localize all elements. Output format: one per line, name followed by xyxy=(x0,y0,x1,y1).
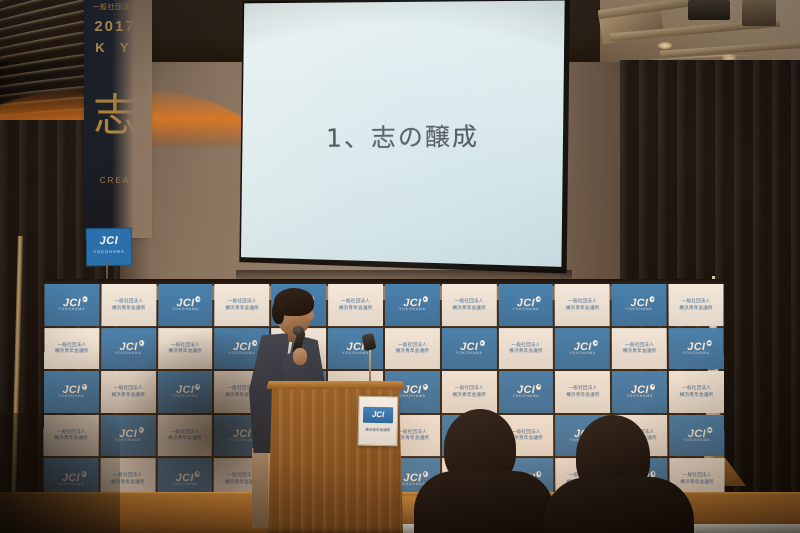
conference-photo-scene: 1、志の醸成 一般社団法人 2017 K Y 志 CREA JCI YOKOHA… xyxy=(0,0,800,533)
backdrop-org-line-1: 一般社団法人 xyxy=(101,386,156,391)
backdrop-tile-text: 一般社団法人横浜青年会議所 xyxy=(669,284,724,325)
backdrop-tile-text: 一般社団法人横浜青年会議所 xyxy=(157,415,212,457)
podium-placard-logo-text: JCI xyxy=(359,410,397,420)
backdrop-org-line-1: 一般社団法人 xyxy=(215,299,270,304)
backdrop-org-line-2: 横浜青年会議所 xyxy=(555,393,610,398)
backdrop-tile-jci: JCIYOKOHAMA xyxy=(385,284,440,325)
backdrop-org-line-1: 一般社団法人 xyxy=(44,343,99,348)
foreground-blur-left xyxy=(0,413,120,533)
downlight-icon xyxy=(658,42,672,49)
backdrop-jci-sub-text: YOKOHAMA xyxy=(328,351,383,355)
backdrop-tile-text: 一般社団法人横浜青年会議所 xyxy=(158,328,213,370)
speaker-hair-side xyxy=(272,300,284,324)
backdrop-tile-text: 一般社団法人横浜青年会議所 xyxy=(612,328,667,370)
backdrop-org-line-1: 一般社団法人 xyxy=(328,299,383,304)
side-sign-sub-text: YOKOHAMA xyxy=(87,249,131,255)
backdrop-org-line-2: 横浜青年会議所 xyxy=(669,393,724,398)
backdrop-tile-jci: JCIYOKOHAMA xyxy=(44,371,99,413)
backdrop-org-line-2: 横浜青年会議所 xyxy=(669,306,724,311)
backdrop-tile-text: 一般社団法人横浜青年会議所 xyxy=(499,328,554,370)
backdrop-org-line-2: 横浜青年会議所 xyxy=(328,306,383,311)
backdrop-jci-sub-text: YOKOHAMA xyxy=(101,351,156,355)
side-sign-logo-text: JCI xyxy=(87,235,131,248)
backdrop-org-line-1: 一般社団法人 xyxy=(442,386,497,391)
backdrop-org-line-2: 横浜青年会議所 xyxy=(385,349,440,354)
backdrop-org-line-1: 一般社団法人 xyxy=(670,473,725,478)
backdrop-org-line-1: 一般社団法人 xyxy=(555,386,610,391)
podium-placard-caption: 横浜青年会議所 xyxy=(359,428,397,433)
backdrop-jci-sub-text: YOKOHAMA xyxy=(158,307,213,311)
backdrop-tile-jci: JCIYOKOHAMA xyxy=(669,415,724,457)
side-jci-sign: JCI YOKOHAMA xyxy=(86,228,133,267)
backdrop-tile-text: 一般社団法人横浜青年会議所 xyxy=(44,328,99,370)
backdrop-tile-jci: JCIYOKOHAMA xyxy=(158,284,213,325)
backdrop-jci-sub-text: YOKOHAMA xyxy=(157,482,212,486)
backdrop-jci-sub-text: YOKOHAMA xyxy=(669,438,724,442)
backdrop-jci-pin-icon xyxy=(423,471,428,477)
backdrop-org-line-2: 横浜青年会議所 xyxy=(555,306,610,311)
backdrop-tile-text: 一般社団法人横浜青年会議所 xyxy=(328,284,383,325)
backdrop-org-line-1: 一般社団法人 xyxy=(555,299,610,304)
backdrop-org-line-2: 横浜青年会議所 xyxy=(442,393,497,398)
backdrop-tile-jci: JCIYOKOHAMA xyxy=(442,328,497,370)
backdrop-jci-sub-text: YOKOHAMA xyxy=(555,351,610,355)
backdrop-org-line-1: 一般社団法人 xyxy=(157,430,212,435)
backdrop-tile-text: 一般社団法人横浜青年会議所 xyxy=(669,371,724,413)
backdrop-org-line-2: 横浜青年会議所 xyxy=(499,349,554,354)
banner-occlusion-mask xyxy=(112,0,152,238)
backdrop-jci-pin-icon xyxy=(82,384,87,390)
audience-shoulders xyxy=(544,477,694,533)
backdrop-org-line-1: 一般社団法人 xyxy=(612,343,667,348)
backdrop-tile-text: 一般社団法人横浜青年会議所 xyxy=(555,284,610,325)
backdrop-jci-sub-text: YOKOHAMA xyxy=(158,394,213,398)
backdrop-org-line-2: 横浜青年会議所 xyxy=(158,349,213,354)
backdrop-org-line-2: 横浜青年会議所 xyxy=(442,306,497,311)
backdrop-org-line-2: 横浜青年会議所 xyxy=(215,306,270,311)
speaker-leg-back xyxy=(252,448,268,528)
audience-shoulders xyxy=(414,471,554,533)
backdrop-org-line-1: 一般社団法人 xyxy=(158,343,213,348)
backdrop-jci-pin-icon xyxy=(138,427,143,433)
backdrop-jci-sub-text: YOKOHAMA xyxy=(44,394,99,398)
backdrop-tile-text: 一般社団法人横浜青年会議所 xyxy=(555,371,610,413)
ceiling-projector-icon xyxy=(688,0,730,20)
backdrop-tile-text: 一般社団法人横浜青年会議所 xyxy=(101,284,156,325)
backdrop-org-line-2: 横浜青年会議所 xyxy=(670,480,725,485)
backdrop-jci-sub-text: YOKOHAMA xyxy=(385,307,440,311)
backdrop-org-line-1: 一般社団法人 xyxy=(385,343,440,348)
backdrop-org-line-2: 横浜青年会議所 xyxy=(612,349,667,354)
backdrop-jci-sub-text: YOKOHAMA xyxy=(669,351,724,355)
backdrop-org-line-1: 一般社団法人 xyxy=(669,386,724,391)
podium-top-surface xyxy=(266,381,405,389)
backdrop-tile-jci: JCIYOKOHAMA xyxy=(44,284,99,325)
backdrop-org-line-2: 横浜青年会議所 xyxy=(157,436,212,441)
backdrop-jci-sub-text: YOKOHAMA xyxy=(442,351,497,355)
slide-title-text: 1、志の醸成 xyxy=(239,116,566,155)
backdrop-tile-text: 一般社団法人横浜青年会議所 xyxy=(385,328,440,370)
backdrop-jci-pin-icon xyxy=(423,384,428,390)
backdrop-jci-pin-icon xyxy=(480,340,485,346)
backdrop-jci-sub-text: YOKOHAMA xyxy=(45,307,100,311)
backdrop-jci-pin-icon xyxy=(139,340,144,346)
backdrop-tile-jci: JCIYOKOHAMA xyxy=(669,328,724,370)
backdrop-org-line-1: 一般社団法人 xyxy=(499,343,554,348)
backdrop-jci-sub-text: YOKOHAMA xyxy=(499,394,554,398)
backdrop-jci-sub-text: YOKOHAMA xyxy=(498,307,553,311)
backdrop-org-line-1: 一般社団法人 xyxy=(101,299,156,304)
backdrop-tile-jci: JCIYOKOHAMA xyxy=(101,328,156,370)
speaker-hand xyxy=(293,348,307,365)
backdrop-tile-text: 一般社団法人横浜青年会議所 xyxy=(442,284,497,325)
presentation-screen: 1、志の醸成 xyxy=(239,0,566,278)
backdrop-org-line-2: 横浜青年会議所 xyxy=(101,306,156,311)
backdrop-tile-jci: JCIYOKOHAMA xyxy=(498,284,553,325)
backdrop-tile-text: 一般社団法人横浜青年会議所 xyxy=(442,371,497,413)
backdrop-tile-jci: JCIYOKOHAMA xyxy=(158,371,213,413)
backdrop-jci-sub-text: YOKOHAMA xyxy=(612,394,667,398)
backdrop-tile-jci: JCIYOKOHAMA xyxy=(612,284,667,325)
backdrop-tile-jci: JCIYOKOHAMA xyxy=(555,328,610,370)
backdrop-org-line-1: 一般社団法人 xyxy=(442,299,497,304)
backdrop-tile-text: 一般社団法人横浜青年会議所 xyxy=(215,284,270,325)
backdrop-jci-pin-icon xyxy=(650,384,655,390)
ceiling-equipment-icon xyxy=(742,0,776,26)
backdrop-org-line-2: 横浜青年会議所 xyxy=(101,393,156,398)
backdrop-jci-sub-text: YOKOHAMA xyxy=(612,307,667,311)
backdrop-tile-jci: JCIYOKOHAMA xyxy=(612,371,667,413)
podium-placard: JCI 横浜青年会議所 xyxy=(358,396,399,447)
backdrop-tile-jci: JCIYOKOHAMA xyxy=(499,371,554,413)
backdrop-jci-pin-icon xyxy=(707,340,712,346)
backdrop-org-line-2: 横浜青年会議所 xyxy=(44,349,99,354)
backdrop-org-line-1: 一般社団法人 xyxy=(669,299,724,304)
backdrop-tile-text: 一般社団法人横浜青年会議所 xyxy=(101,371,156,413)
